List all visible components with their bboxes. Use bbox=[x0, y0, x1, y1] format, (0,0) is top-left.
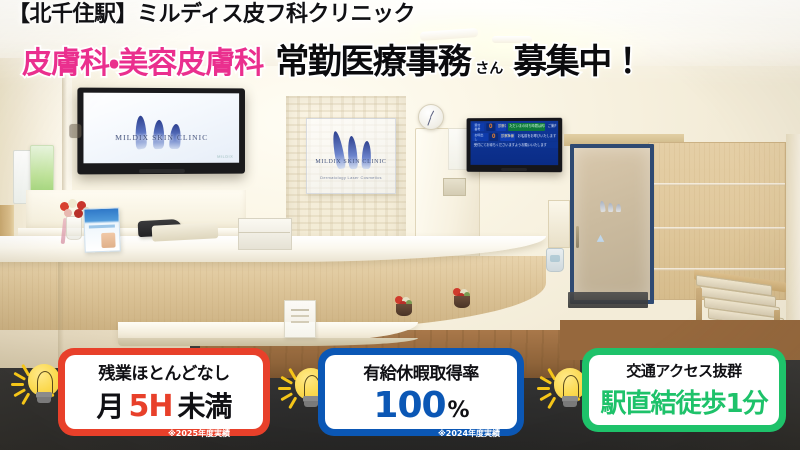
signage-row-number: 0 bbox=[486, 123, 495, 131]
signage-cell: 診察中 bbox=[497, 123, 507, 131]
flower-pot bbox=[452, 288, 472, 308]
badge-main-value: 駅直結徒歩1分 bbox=[600, 383, 767, 420]
wall-plate bbox=[443, 178, 466, 196]
headline-clinic-name: 【北千住駅】ミルディス皮フ科クリニック bbox=[8, 2, 415, 26]
tv-mount-arm bbox=[69, 124, 81, 138]
signage-row-number: 0 bbox=[489, 133, 498, 141]
entrance-mat bbox=[568, 292, 648, 308]
benefit-badge-overtime: 残業ほとんどなし 月 5H 未満 bbox=[58, 348, 270, 436]
brochure-stand bbox=[83, 207, 121, 252]
signage-row: お呼出し 0 診察準備 お名前をお呼びいたします bbox=[472, 132, 556, 140]
clinic-logo-plaque: MILDIX SKIN CLINIC Dermatology Laser Cos… bbox=[306, 118, 396, 194]
bulb-base bbox=[304, 401, 318, 407]
panel-groove bbox=[649, 227, 785, 230]
wall-mounted-tv: MILDIX SKIN CLINIC MILDIX bbox=[77, 88, 245, 175]
headline-cta: 募集中！ bbox=[513, 34, 643, 83]
badge-main-value: 月 5H 未満 bbox=[96, 385, 231, 425]
signage-row-label: お呼出し bbox=[472, 133, 487, 141]
badge-content: 残業ほとんどなし 月 5H 未満 bbox=[65, 355, 263, 429]
badge-content: 有給休暇取得率 100 % bbox=[325, 355, 517, 429]
badge-main-number: 5H bbox=[129, 389, 173, 424]
door-sticker-icon bbox=[596, 234, 605, 243]
tv-corner-label: MILDIX bbox=[217, 154, 233, 159]
badge-content: 交通アクセス抜群 駅直結徒歩1分 bbox=[589, 355, 779, 425]
badge-note-paid-leave: ※2024年度実績 bbox=[438, 428, 500, 439]
recruitment-banner: MILDIX SKIN CLINIC MILDIX MILDIX SKIN CL… bbox=[0, 0, 800, 450]
plaque-clinic-name: MILDIX SKIN CLINIC bbox=[311, 159, 391, 165]
signage-footer: 受付にてお待ちくださいますようお願いいたします bbox=[472, 142, 558, 148]
signage-cell: ご案内 bbox=[546, 123, 556, 131]
decorative-planter bbox=[546, 248, 564, 272]
tv-logo-text: MILDIX SKIN CLINIC bbox=[115, 132, 208, 141]
door-logo-icon bbox=[599, 200, 625, 212]
tv-logo: MILDIX SKIN CLINIC bbox=[83, 93, 239, 164]
queue-signage-monitor: 受付番号 0 診察中 ただいまの待ち時間は約30分です ご案内 お呼出し 0 診… bbox=[467, 118, 563, 172]
bulb-base bbox=[563, 401, 577, 407]
badge-main-number: 100 bbox=[373, 385, 445, 426]
panel-groove bbox=[649, 183, 785, 186]
signage-row: 受付番号 0 診察中 ただいまの待ち時間は約30分です ご案内 bbox=[472, 123, 556, 131]
door-handle bbox=[576, 226, 579, 248]
entrance-area bbox=[564, 134, 800, 334]
signage-row-label: 受付番号 bbox=[472, 123, 484, 131]
badge-note-overtime: ※2025年度実績 bbox=[168, 428, 230, 439]
flower-pot bbox=[394, 296, 414, 316]
wall-clock-icon bbox=[418, 104, 444, 130]
cabinet-drawer-line bbox=[238, 232, 290, 233]
headline-honorific: さん bbox=[475, 58, 503, 78]
reception-cabinet bbox=[238, 218, 292, 250]
entrance-door bbox=[570, 144, 654, 304]
tv-screen: MILDIX SKIN CLINIC MILDIX bbox=[83, 93, 239, 164]
panel-groove bbox=[649, 268, 785, 271]
plaque-clinic-subtitle: Dermatology Laser Cosmetics bbox=[311, 175, 391, 180]
bulb-base bbox=[37, 397, 51, 403]
signage-cell: ただいまの待ち時間は約30分です bbox=[508, 123, 545, 131]
signage-screen: 受付番号 0 診察中 ただいまの待ち時間は約30分です ご案内 お呼出し 0 診… bbox=[471, 121, 559, 165]
badge-top-label: 有給休暇取得率 bbox=[363, 359, 479, 384]
badge-main-suffix: 未満 bbox=[177, 385, 231, 425]
headline-specialty: 皮膚科・美容皮膚科 bbox=[22, 38, 263, 82]
badge-main-value: 100 % bbox=[373, 385, 468, 426]
headline-job-line: 皮膚科・美容皮膚科 常勤医療事務 さん 募集中！ bbox=[22, 34, 643, 83]
badge-main-prefix: 月 bbox=[96, 385, 123, 425]
signage-cell: 診察準備 bbox=[500, 132, 515, 140]
badge-main-unit: % bbox=[448, 398, 469, 423]
signage-cell: お名前をお呼びいたします bbox=[516, 132, 556, 140]
tv-stand bbox=[139, 169, 185, 173]
benefit-badge-access: 交通アクセス抜群 駅直結徒歩1分 bbox=[582, 348, 786, 432]
badge-top-label: 交通アクセス抜群 bbox=[626, 360, 741, 381]
benefit-badge-paid-leave: 有給休暇取得率 100 % bbox=[318, 348, 524, 436]
counter-sign-holder bbox=[284, 300, 316, 338]
signage-stand bbox=[501, 168, 527, 171]
headline-role: 常勤医療事務 bbox=[275, 34, 470, 83]
badge-top-label: 残業ほとんどなし bbox=[98, 359, 229, 384]
